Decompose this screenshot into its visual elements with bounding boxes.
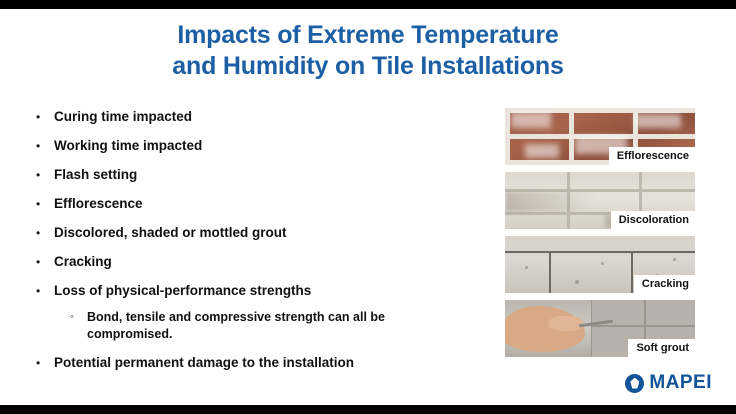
bullet-marker-icon: •: [36, 282, 54, 300]
list-item-label: Curing time impacted: [54, 108, 192, 126]
title-line-2: and Humidity on Tile Installations: [0, 51, 736, 82]
mapei-mark-icon: [625, 374, 644, 393]
bullet-marker-icon: •: [36, 253, 54, 271]
letterbox-bottom: [0, 405, 736, 414]
bullet-marker-icon: •: [36, 354, 54, 372]
bullet-list: • Curing time impacted • Working time im…: [36, 108, 486, 383]
list-item: • Flash setting: [36, 166, 486, 184]
list-item-label: Cracking: [54, 253, 112, 271]
bullet-marker-icon: •: [36, 137, 54, 155]
bullet-marker-icon: •: [36, 108, 54, 126]
list-item: • Curing time impacted: [36, 108, 486, 126]
bullet-marker-icon: •: [36, 224, 54, 242]
list-item-label: Potential permanent damage to the instal…: [54, 354, 354, 372]
photo-discoloration: Discoloration: [505, 172, 695, 229]
slide-canvas: Impacts of Extreme Temperature and Humid…: [0, 0, 736, 414]
photo-cracking: Cracking: [505, 236, 695, 293]
photo-efflorescence: Efflorescence: [505, 108, 695, 165]
list-item-label: Efflorescence: [54, 195, 143, 213]
bullet-marker-icon: •: [36, 166, 54, 184]
photo-caption: Efflorescence: [609, 147, 695, 165]
list-item-label: Working time impacted: [54, 137, 202, 155]
list-item: • Cracking: [36, 253, 486, 271]
title-line-1: Impacts of Extreme Temperature: [177, 21, 558, 49]
list-item-label: Loss of physical-performance strengths: [54, 282, 311, 300]
slide-title: Impacts of Extreme Temperature and Humid…: [0, 20, 736, 82]
list-item-label: Flash setting: [54, 166, 137, 184]
sub-list-item-label: Bond, tensile and compressive strength c…: [87, 309, 387, 343]
photo-caption: Cracking: [634, 275, 695, 293]
photo-soft-grout: Soft grout: [505, 300, 695, 357]
mapei-logo: MAPEI: [625, 372, 712, 394]
photo-caption: Soft grout: [628, 339, 695, 357]
list-item: • Efflorescence: [36, 195, 486, 213]
sub-bullet-marker-icon: ◦: [70, 309, 87, 326]
list-item: • Working time impacted: [36, 137, 486, 155]
photo-caption: Discoloration: [611, 211, 695, 229]
list-item: • Potential permanent damage to the inst…: [36, 354, 486, 372]
sub-list-item: ◦ Bond, tensile and compressive strength…: [70, 309, 486, 343]
list-item-label: Discolored, shaded or mottled grout: [54, 224, 287, 242]
mapei-wordmark: MAPEI: [649, 372, 712, 394]
photo-strip: Efflorescence Discoloration: [505, 108, 695, 364]
list-item: • Loss of physical-performance strengths: [36, 282, 486, 300]
letterbox-top: [0, 0, 736, 9]
bullet-marker-icon: •: [36, 195, 54, 213]
list-item: • Discolored, shaded or mottled grout: [36, 224, 486, 242]
